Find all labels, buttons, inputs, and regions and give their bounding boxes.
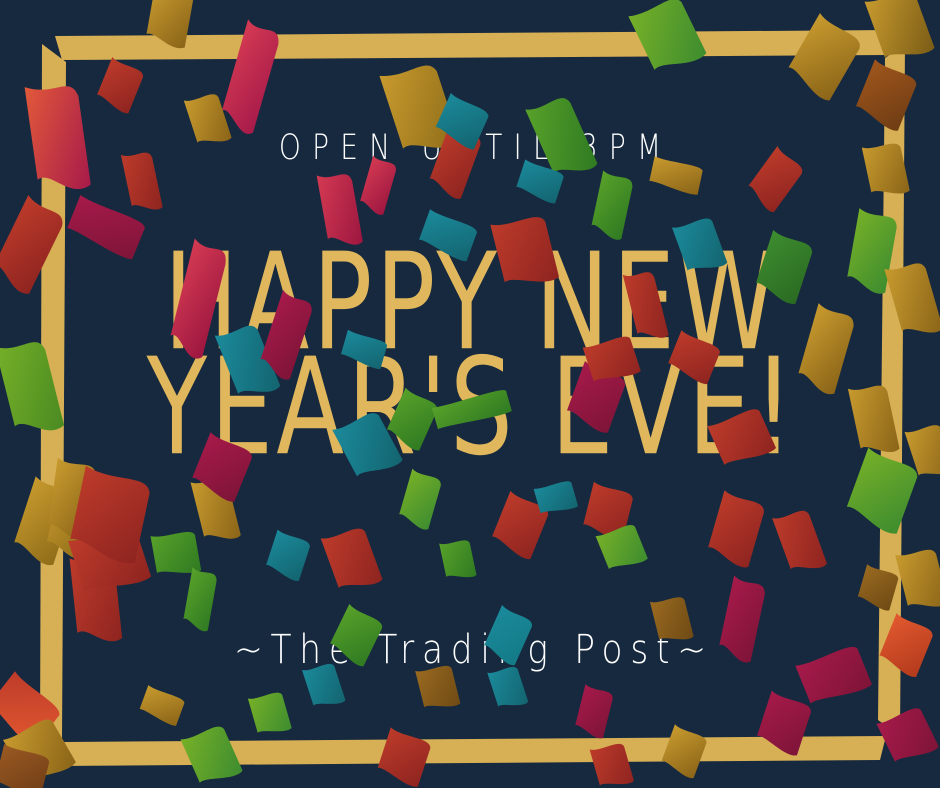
headline-line-2: YEAR'S EVE! — [94, 343, 846, 474]
tagline-text: ~The Trading Post~ — [66, 630, 874, 670]
text-layer: OPEN UNTIL 3PM HAPPY NEW YEAR'S EVE! ~Th… — [0, 0, 940, 788]
kicker-text: OPEN UNTIL 3PM — [94, 131, 846, 166]
poster-canvas: OPEN UNTIL 3PM HAPPY NEW YEAR'S EVE! ~Th… — [0, 0, 940, 788]
